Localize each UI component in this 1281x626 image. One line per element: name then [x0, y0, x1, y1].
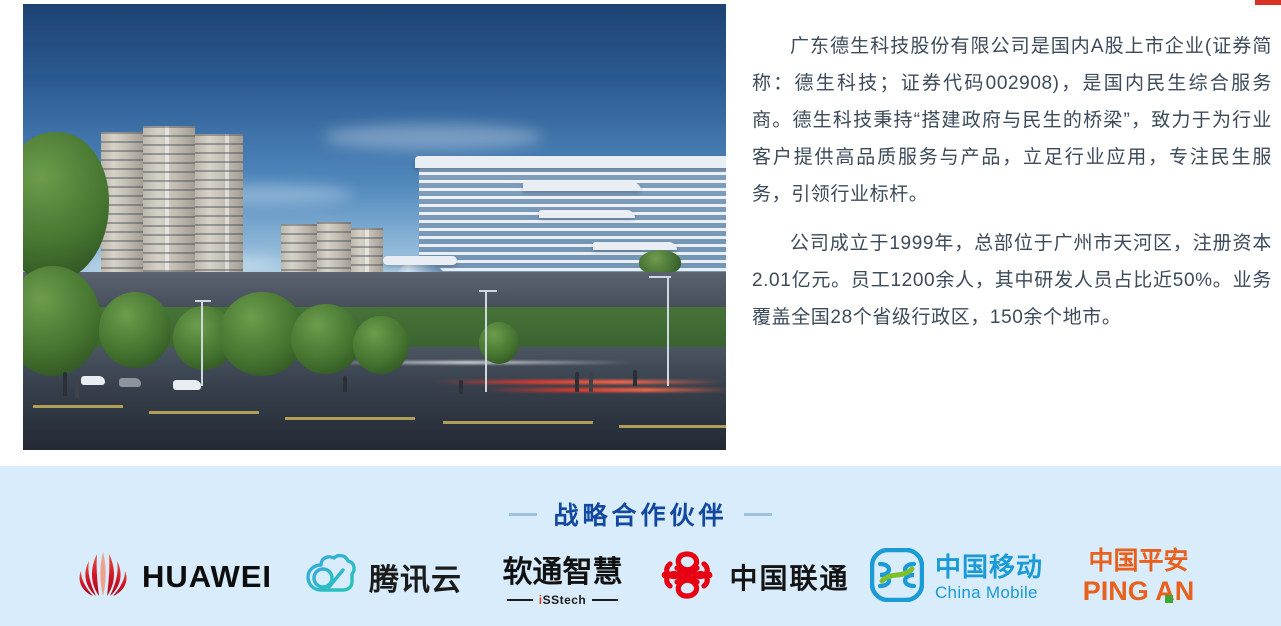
title-dash-right [744, 513, 772, 516]
china-unicom-knot-icon [657, 547, 717, 608]
tree [99, 292, 171, 368]
ping-an-en-text: PING AN [1083, 576, 1195, 606]
pedestrian [633, 370, 637, 386]
ping-an-en-wordmark: PING AN [1083, 578, 1195, 605]
china-mobile-cn-wordmark: 中国移动 [935, 554, 1043, 580]
lane-marking [285, 417, 415, 420]
street-lamp-arm [195, 300, 211, 302]
title-dash-left [509, 513, 537, 516]
about-company-text: 广东德生科技股份有限公司是国内A股上市企业(证券简称：德生科技；证券代码0029… [752, 28, 1272, 344]
tencent-cloud-icon [305, 553, 357, 602]
ping-an-cn-wordmark: 中国平安 [1088, 549, 1188, 574]
partner-logo-china-unicom[interactable]: 中国联通 [649, 544, 859, 610]
car [173, 380, 201, 390]
car [119, 378, 141, 387]
pedestrian [575, 372, 579, 392]
isstech-sub-row: iSStech [507, 593, 619, 607]
hero-image-canvas [23, 4, 726, 450]
strategic-partners-section: 战略合作伙伴 [0, 466, 1281, 626]
tencent-cloud-wordmark: 腾讯云 [369, 555, 462, 599]
building-ledge [523, 182, 641, 191]
tree [291, 304, 361, 374]
partner-logo-ping-an[interactable]: 中国平安 PING AN [1055, 544, 1223, 610]
car [81, 376, 105, 385]
cloud-shape [323, 124, 543, 150]
street-lamp-arm [479, 290, 497, 292]
street-lamp [667, 276, 669, 386]
pedestrian [343, 376, 347, 392]
isstech-sub-text: SStech [543, 593, 587, 607]
isstech-cn-wordmark: 软通智慧 [503, 547, 623, 591]
huawei-wordmark: HUAWEI [142, 559, 272, 595]
top-accent-bar [1255, 0, 1281, 5]
lane-marking [619, 425, 726, 428]
china-unicom-wordmark: 中国联通 [729, 557, 849, 597]
building-roof [415, 156, 726, 168]
lane-marking [33, 405, 123, 408]
rooftop-planting [639, 250, 681, 274]
china-mobile-en-wordmark: China Mobile [935, 584, 1043, 601]
section-title-row: 战略合作伙伴 [0, 496, 1281, 532]
about-paragraph-2: 公司成立于1999年，总部位于广州市天河区，注册资本2.01亿元。员工1200余… [752, 225, 1272, 336]
lane-marking [149, 411, 259, 414]
hero-image [23, 4, 726, 450]
about-paragraph-1: 广东德生科技股份有限公司是国内A股上市企业(证券简称：德生科技；证券代码0029… [752, 28, 1272, 213]
partner-logo-tencent-cloud[interactable]: 腾讯云 [291, 544, 477, 610]
partner-logo-row: HUAWEI [0, 544, 1281, 610]
china-mobile-swirl-icon [870, 548, 924, 607]
stair-tower-cap [383, 256, 457, 265]
building-ledge [539, 210, 635, 218]
tree [353, 316, 409, 374]
partner-logo-huawei[interactable]: HUAWEI [59, 544, 291, 610]
lane-marking [443, 421, 593, 424]
pedestrian [75, 376, 79, 398]
page-root: 广东德生科技股份有限公司是国内A股上市企业(证券简称：德生科技；证券代码0029… [0, 0, 1281, 626]
street-lamp [485, 290, 487, 392]
huawei-flower-icon [77, 550, 129, 605]
partner-logo-china-mobile[interactable]: 中国移动 China Mobile [859, 544, 1055, 610]
partner-logo-isstech[interactable]: 软通智慧 iSStech [477, 544, 649, 610]
pedestrian [459, 380, 463, 394]
building-ledge [593, 242, 677, 250]
street-lamp-arm [649, 276, 671, 278]
pedestrian [589, 372, 593, 392]
pedestrian [63, 372, 67, 396]
light-trail [483, 388, 726, 392]
isstech-rule-right [592, 599, 618, 601]
section-title: 战略合作伙伴 [553, 496, 727, 532]
street-lamp [201, 300, 203, 386]
isstech-rule-left [507, 599, 533, 601]
ping-an-green-accent [1165, 595, 1173, 603]
isstech-latin-wordmark: iSStech [539, 593, 587, 607]
